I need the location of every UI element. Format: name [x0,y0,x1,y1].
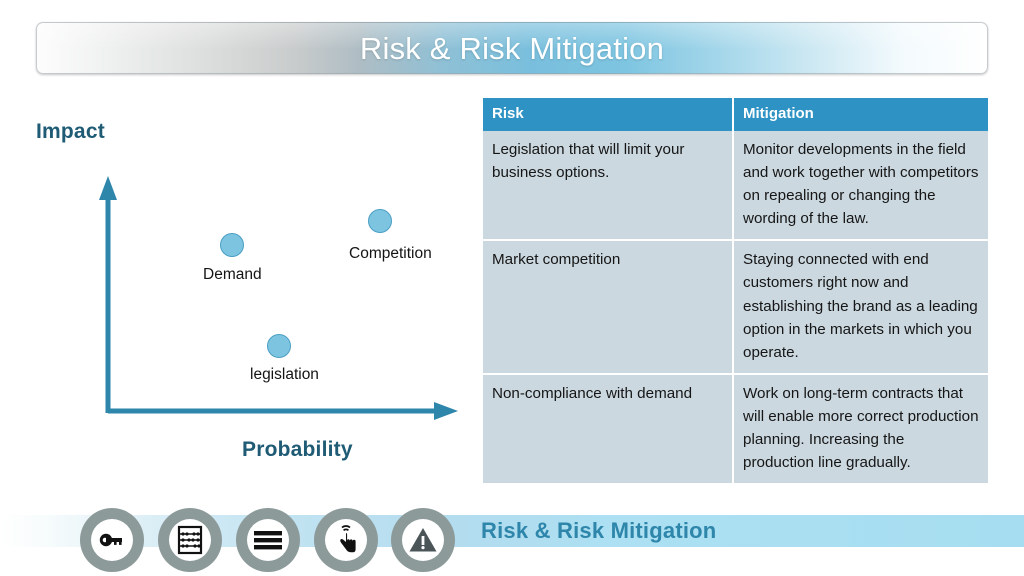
icon-button-touch[interactable] [314,508,378,572]
data-point-label-competition: Competition [349,245,432,263]
chart-axes [20,108,480,478]
icon-button-key[interactable] [80,508,144,572]
abacus-icon [169,519,211,561]
slide-root: Risk & Risk Mitigation Impact Demand Com… [0,0,1024,576]
table-cell-mitigation: Monitor developments in the field and wo… [734,131,988,241]
key-icon [91,519,133,561]
data-point-legislation[interactable] [267,334,291,358]
table-header-row: Risk Mitigation [483,98,988,131]
touch-gesture-icon [325,519,367,561]
footer-title: Risk & Risk Mitigation [481,515,716,547]
table-row: Legislation that will limit your busines… [483,131,988,241]
icon-button-warning[interactable] [391,508,455,572]
data-point-competition[interactable] [368,209,392,233]
icon-button-menu[interactable] [236,508,300,572]
data-point-label-demand: Demand [203,266,262,284]
table-cell-risk: Legislation that will limit your busines… [483,131,734,241]
data-point-label-legislation: legislation [250,366,319,384]
table-cell-mitigation: Staying connected with end customers rig… [734,241,988,374]
data-point-demand[interactable] [220,233,244,257]
page-title: Risk & Risk Mitigation [37,23,987,75]
hamburger-menu-icon [247,519,289,561]
table-header-risk: Risk [483,98,734,131]
table-row: Market competition Staying connected wit… [483,241,988,374]
table-row: Non-compliance with demand Work on long-… [483,375,988,483]
title-banner: Risk & Risk Mitigation [36,22,988,74]
icon-button-abacus[interactable] [158,508,222,572]
risk-impact-scatter-chart: Impact Demand Competition legislation Pr… [20,108,480,478]
chart-x-axis-label: Probability [242,438,353,462]
table-header-mitigation: Mitigation [734,98,988,131]
table-cell-mitigation: Work on long-term contracts that will en… [734,375,988,483]
table-cell-risk: Market competition [483,241,734,374]
warning-triangle-icon [402,519,444,561]
table-cell-risk: Non-compliance with demand [483,375,734,483]
risk-mitigation-table: Risk Mitigation Legislation that will li… [483,98,988,483]
